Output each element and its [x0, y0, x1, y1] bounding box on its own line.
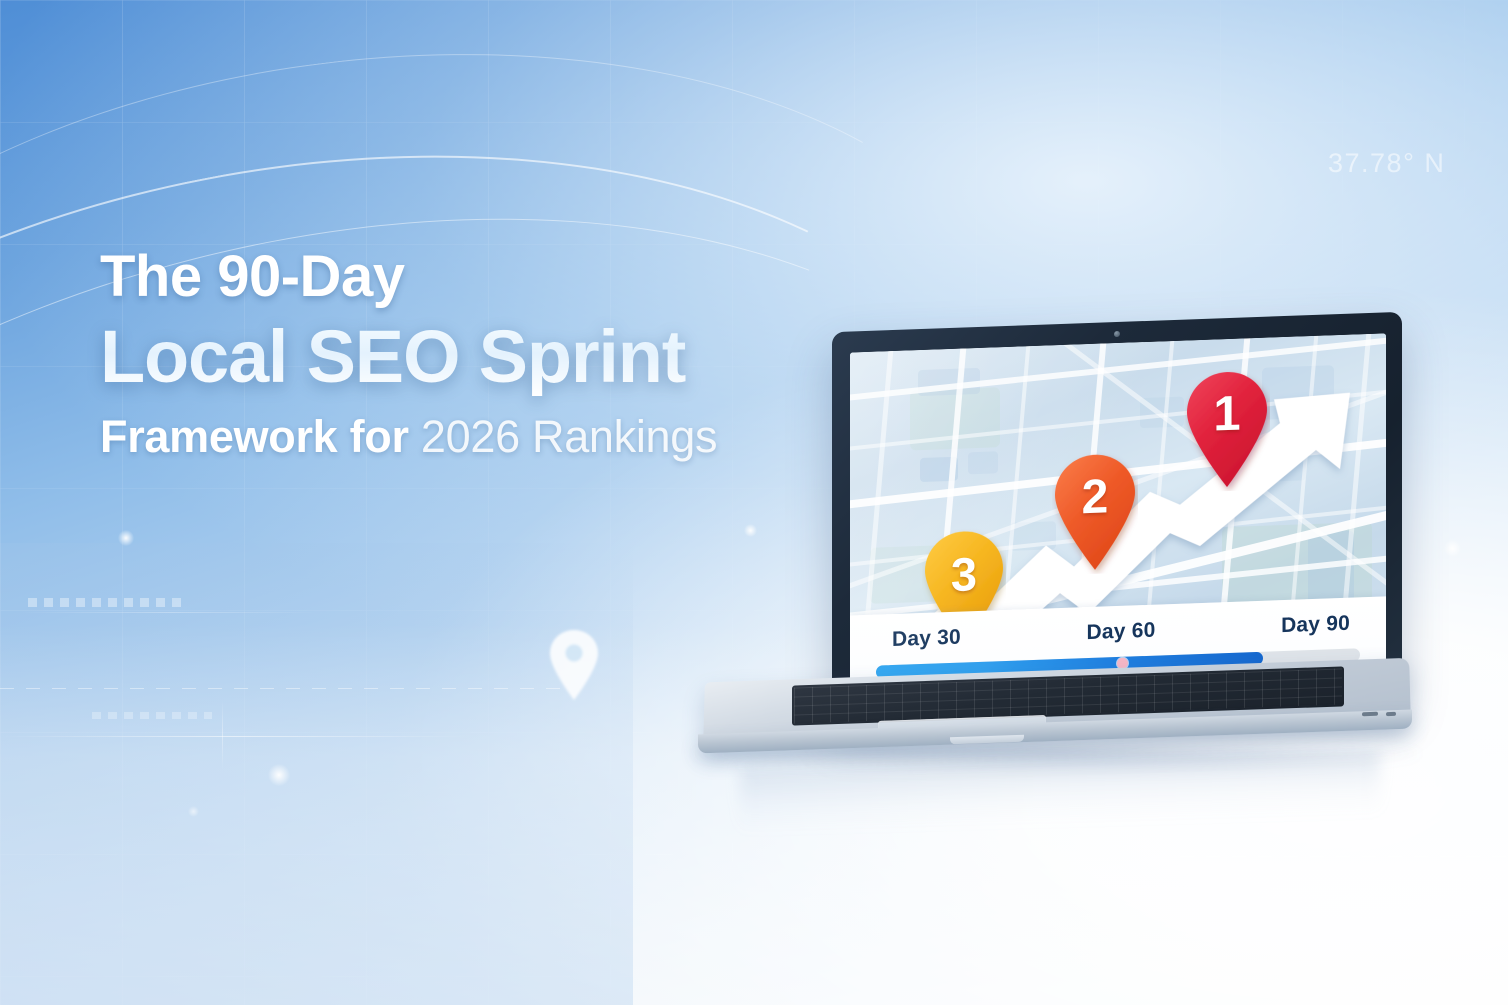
timeline-label-day-60: Day 60	[1087, 619, 1156, 645]
screen-content: 3	[850, 333, 1386, 701]
background-glow-dot-4	[1444, 540, 1461, 557]
background-glow-dot-1	[118, 530, 134, 546]
poster-canvas: 37.78° N The 90-Day Local SEO Sprint Fra…	[0, 0, 1508, 1005]
timeline-labels: Day 30 Day 60 Day 90	[850, 610, 1386, 653]
background-thin-rule-2	[20, 612, 320, 613]
timeline-label-day-90: Day 90	[1281, 612, 1350, 638]
laptop-lid-notch	[950, 735, 1024, 745]
laptop-port-icon	[1362, 712, 1378, 717]
laptop-base	[620, 652, 1420, 772]
laptop-screen-bezel-inner: 3	[850, 333, 1386, 701]
headline-line-3-strong: Framework for	[100, 411, 421, 462]
laptop-device: 3	[620, 300, 1420, 770]
map-pin-rank-2[interactable]: 2	[1052, 450, 1138, 575]
headline-line-1: The 90-Day	[100, 246, 860, 307]
background-dashed-rule-right	[1180, 856, 1508, 857]
background-dashed-rule-left	[0, 688, 560, 689]
map-pin-rank-1[interactable]: 1	[1184, 368, 1270, 493]
timeline-label-day-30: Day 30	[892, 626, 961, 652]
webcam-dot-icon	[1114, 331, 1120, 337]
background-glow-dot-6	[188, 806, 199, 817]
background-ghost-strip-2	[92, 712, 212, 719]
map-pin-rank-3-number: 3	[922, 549, 1006, 599]
background-glow-dot-2	[268, 764, 290, 786]
background-ghost-strip-1	[28, 598, 188, 607]
laptop-port-icon	[1386, 712, 1396, 716]
background-vertical-rule	[222, 700, 223, 770]
background-thin-rule-1	[0, 736, 470, 737]
coordinate-label: 37.78° N	[1328, 148, 1445, 179]
watermark-map-pin-icon	[548, 628, 600, 702]
map-pin-rank-2-number: 2	[1052, 472, 1138, 523]
map-pin-rank-1-number: 1	[1184, 389, 1270, 441]
